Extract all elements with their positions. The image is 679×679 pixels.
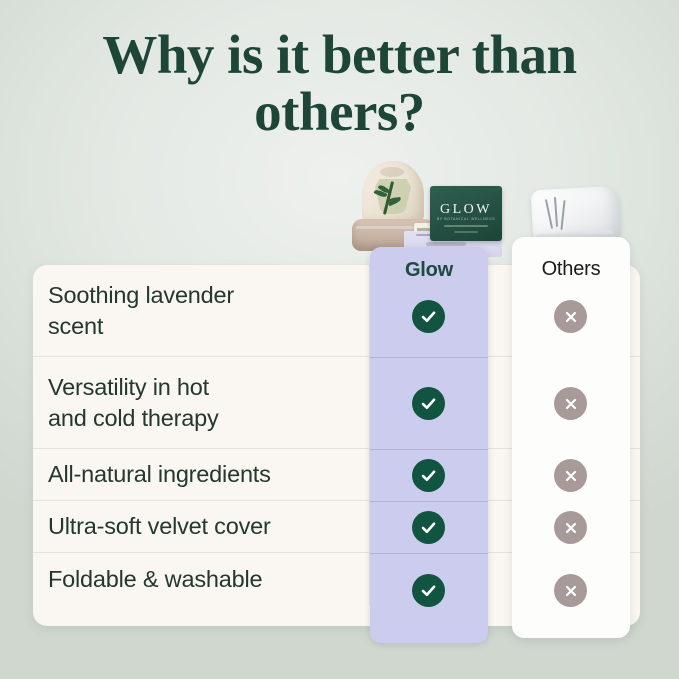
cross-icon: [554, 574, 587, 607]
check-icon: [412, 300, 445, 333]
check-icon: [412, 574, 445, 607]
marks-layer: [0, 0, 679, 679]
comparison-infographic: Why is it better than others? GLOW BY BO…: [0, 0, 679, 679]
cross-icon: [554, 387, 587, 420]
cross-icon: [554, 511, 587, 544]
cross-icon: [554, 300, 587, 333]
check-icon: [412, 511, 445, 544]
check-icon: [412, 459, 445, 492]
check-icon: [412, 387, 445, 420]
cross-icon: [554, 459, 587, 492]
